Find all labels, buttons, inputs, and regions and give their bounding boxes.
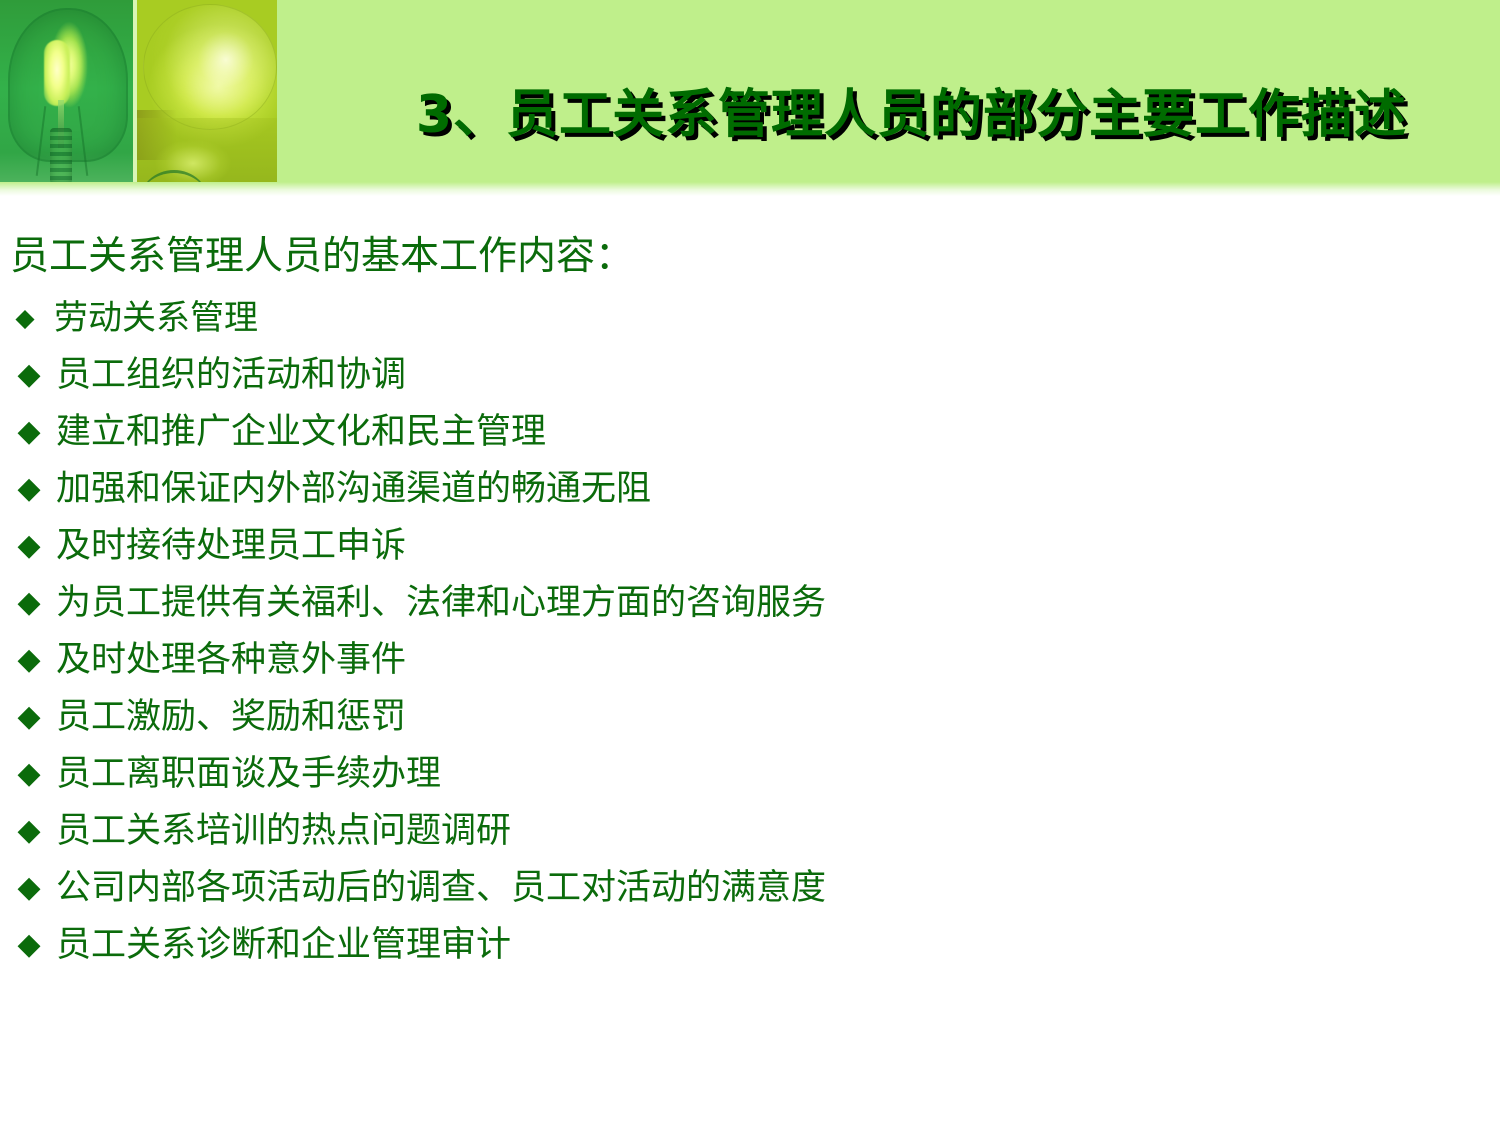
diamond-bullet-icon: ◆ xyxy=(16,474,42,504)
diamond-bullet-icon: ◆ xyxy=(16,816,42,846)
list-item: ◆ 员工关系诊断和企业管理审计 xyxy=(0,916,1480,973)
list-item: ◆ 及时处理各种意外事件 xyxy=(0,631,1480,688)
list-item-label: 劳动关系管理 xyxy=(54,298,258,338)
list-item-label: 员工组织的活动和协调 xyxy=(56,355,406,395)
list-item-label: 及时处理各种意外事件 xyxy=(56,640,406,680)
diamond-bullet-icon: ◆ xyxy=(16,873,42,903)
diamond-bullet-icon: ◆ xyxy=(16,588,42,618)
diamond-bullet-icon: ◆ xyxy=(16,702,42,732)
diamond-bullet-icon: ◆ xyxy=(16,645,42,675)
diamond-bullet-icon: ◆ xyxy=(16,417,42,447)
content-heading: 员工关系管理人员的基本工作内容： xyxy=(10,234,634,280)
list-item-label: 建立和推广企业文化和民主管理 xyxy=(56,412,546,452)
list-item: ◆ 为员工提供有关福利、法律和心理方面的咨询服务 xyxy=(0,574,1480,631)
diamond-bullet-icon: ◆ xyxy=(16,759,42,789)
bullet-list: ◆ 劳动关系管理 ◆ 员工组织的活动和协调 ◆ 建立和推广企业文化和民主管理 ◆… xyxy=(0,289,1480,973)
list-item: ◆ 员工组织的活动和协调 xyxy=(0,346,1480,403)
list-item: ◆ 及时接待处理员工申诉 xyxy=(0,517,1480,574)
diamond-bullet-icon: ◆ xyxy=(16,930,42,960)
list-item-label: 员工关系培训的热点问题调研 xyxy=(56,811,511,851)
list-item-label: 员工关系诊断和企业管理审计 xyxy=(56,925,511,965)
diamond-bullet-icon: ◆ xyxy=(16,360,42,390)
yellow-lightbulb-photo xyxy=(137,0,277,196)
bulb-filament-shape xyxy=(44,40,70,106)
list-item-label: 及时接待处理员工申诉 xyxy=(56,526,406,566)
list-item-label: 为员工提供有关福利、法律和心理方面的咨询服务 xyxy=(56,583,826,623)
bulb-base-shape xyxy=(50,128,72,184)
slide-title: 3、员工关系管理人员的部分主要工作描述 xyxy=(297,86,1407,144)
green-lightbulb-photo xyxy=(0,0,133,196)
slide-body: 员工关系管理人员的基本工作内容： ◆ 劳动关系管理 ◆ 员工组织的活动和协调 ◆… xyxy=(0,196,1500,1125)
list-item-label: 加强和保证内外部沟通渠道的畅通无阻 xyxy=(56,469,651,509)
list-item-label: 公司内部各项活动后的调查、员工对活动的满意度 xyxy=(56,868,826,908)
list-item-label: 员工激励、奖励和惩罚 xyxy=(56,697,406,737)
list-item: ◆ 员工激励、奖励和惩罚 xyxy=(0,688,1480,745)
list-item: ◆ 劳动关系管理 xyxy=(0,289,1480,346)
slide-header: 3、员工关系管理人员的部分主要工作描述 xyxy=(0,0,1500,196)
list-item: ◆ 建立和推广企业文化和民主管理 xyxy=(0,403,1480,460)
list-item: ◆ 员工关系培训的热点问题调研 xyxy=(0,802,1480,859)
yellow-bulb-sphere-shape xyxy=(143,4,277,130)
list-item: ◆ 员工离职面谈及手续办理 xyxy=(0,745,1480,802)
diamond-bullet-icon: ◆ xyxy=(12,305,38,330)
list-item: ◆ 加强和保证内外部沟通渠道的畅通无阻 xyxy=(0,460,1480,517)
list-item: ◆ 公司内部各项活动后的调查、员工对活动的满意度 xyxy=(0,859,1480,916)
diamond-bullet-icon: ◆ xyxy=(16,531,42,561)
list-item-label: 员工离职面谈及手续办理 xyxy=(56,754,441,794)
